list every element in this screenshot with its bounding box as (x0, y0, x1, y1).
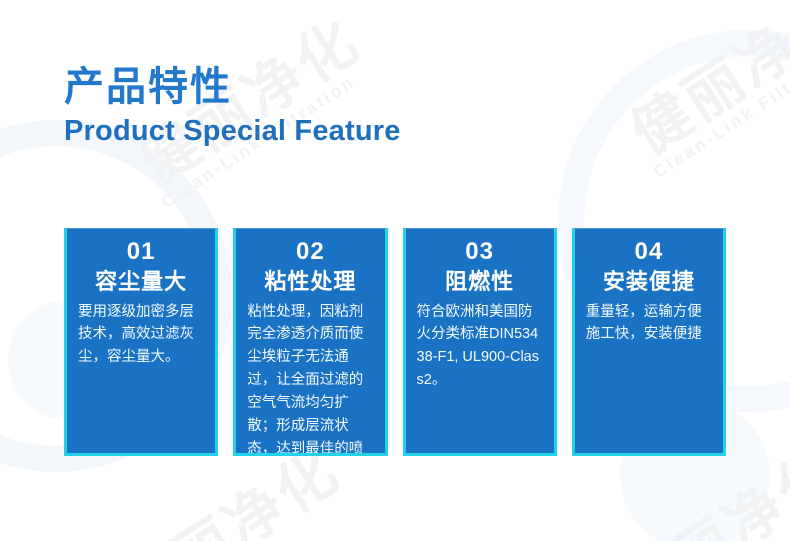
feature-card-body: 要用逐级加密多层技术，高效过滤灰尘，容尘量大。 (78, 301, 204, 370)
feature-card-number: 01 (78, 237, 204, 267)
page-title-cn: 产品特性 (64, 66, 401, 108)
feature-card[interactable]: 04 安装便捷 重量轻，运输方便施工快，安装便捷 (572, 228, 726, 456)
feature-card-number: 04 (586, 237, 712, 267)
feature-card-title: 阻燃性 (417, 268, 543, 296)
feature-card[interactable]: 03 阻燃性 符合欧洲和美国防火分类标准DIN53438-F1, UL900-C… (403, 228, 557, 456)
feature-card-title: 粘性处理 (247, 268, 373, 296)
feature-card-title: 安装便捷 (586, 268, 712, 296)
feature-card[interactable]: 01 容尘量大 要用逐级加密多层技术，高效过滤灰尘，容尘量大。 (64, 228, 218, 456)
feature-card-body: 粘性处理，因粘剂完全渗透介质而使尘埃粒子无法通过，让全面过滤的空气气流均匀扩散；… (247, 301, 373, 457)
feature-card-body: 重量轻，运输方便施工快，安装便捷 (586, 301, 712, 347)
feature-card-number: 02 (247, 237, 373, 267)
feature-card-title: 容尘量大 (78, 268, 204, 296)
feature-card[interactable]: 02 粘性处理 粘性处理，因粘剂完全渗透介质而使尘埃粒子无法通过，让全面过滤的空… (233, 228, 387, 456)
page-heading: 产品特性 Product Special Feature (64, 66, 401, 148)
page-title-en: Product Special Feature (64, 116, 401, 148)
watermark-cn-right: 健丽净化 (612, 0, 790, 170)
watermark-en-right: Clean-Link Filtration (650, 42, 790, 183)
feature-card-list: 01 容尘量大 要用逐级加密多层技术，高效过滤灰尘，容尘量大。 02 粘性处理 … (64, 228, 726, 456)
feature-card-number: 03 (417, 237, 543, 267)
feature-card-body: 符合欧洲和美国防火分类标准DIN53438-F1, UL900-Class2。 (417, 301, 543, 393)
